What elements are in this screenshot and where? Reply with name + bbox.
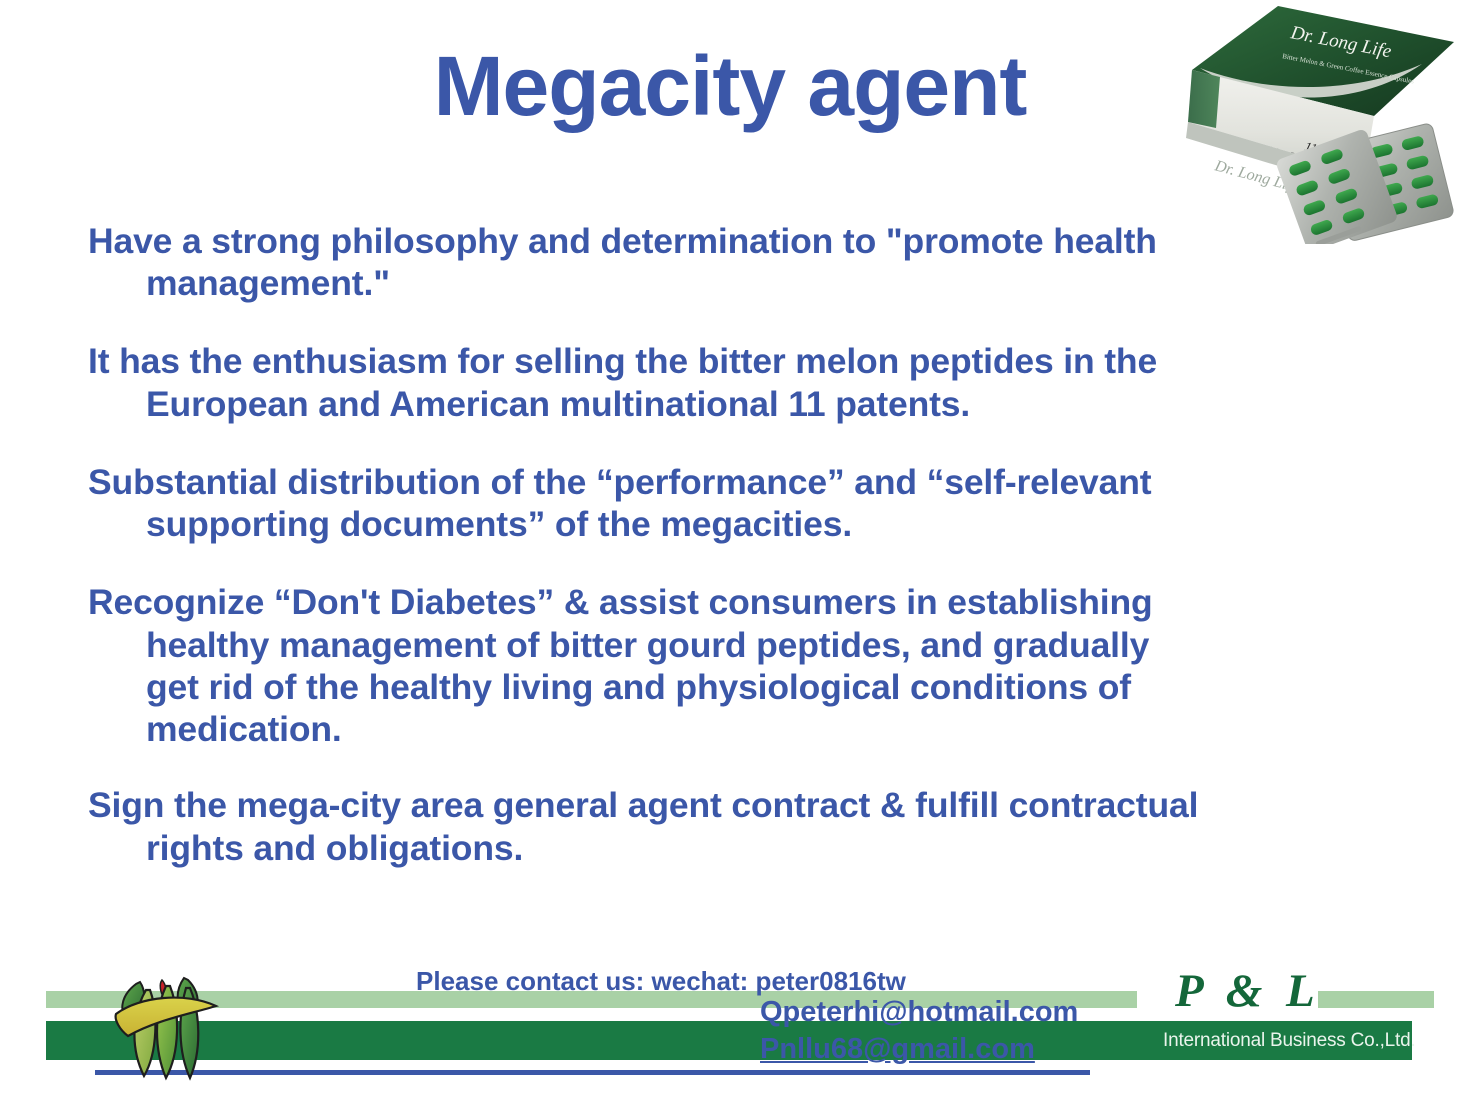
pl-logo-mark: P & L (1163, 968, 1443, 1015)
contact-email-hotmail[interactable]: Qpeterhi@hotmail.com (416, 994, 1116, 1031)
pl-logo-subtitle: International Business Co.,Ltd. (1163, 1021, 1412, 1060)
product-photo-image: Dr. Long Life Bitter Melon & Green Coffe… (1186, 0, 1460, 244)
body-paragraph-5: Sign the mega-city area general agent co… (88, 784, 1203, 868)
body-paragraph-3: Substantial distribution of the “perform… (88, 461, 1203, 545)
product-photo: Dr. Long Life Bitter Melon & Green Coffe… (1186, 0, 1460, 244)
body-paragraph-4: Recognize “Don't Diabetes” & assist cons… (88, 581, 1203, 750)
body-paragraph-1: Have a strong philosophy and determinati… (88, 220, 1203, 304)
pl-company-logo: P & L International Business Co.,Ltd. (1163, 968, 1443, 1078)
contact-wechat-line: Please contact us: wechat: peter0816tw (416, 968, 1116, 994)
body-copy: Have a strong philosophy and determinati… (88, 220, 1203, 905)
leaf-emblem-icon (100, 962, 230, 1095)
body-paragraph-2: It has the enthusiasm for selling the bi… (88, 340, 1203, 424)
bitter-gourd-leaf-logo (100, 962, 230, 1095)
footer-divider-rule (95, 1070, 1090, 1075)
presentation-slide: Megacity agent (0, 0, 1460, 1095)
contact-email-gmail[interactable]: Pnllu68@gmail.com (416, 1031, 1116, 1068)
contact-block: Please contact us: wechat: peter0816tw Q… (416, 968, 1116, 1068)
